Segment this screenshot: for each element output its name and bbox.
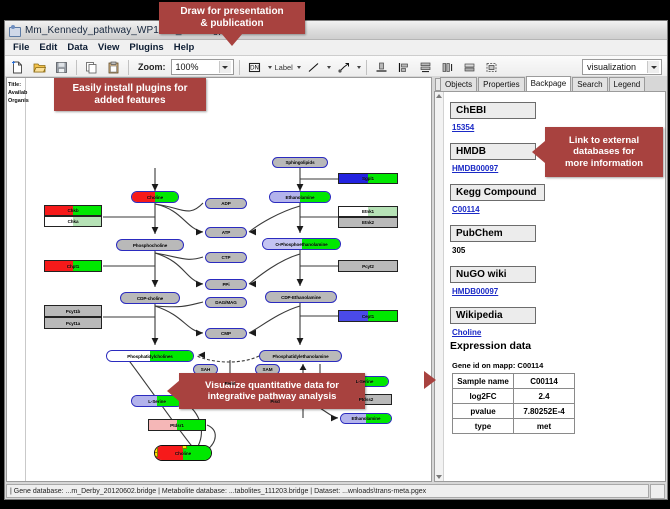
callout-plugins: Easily install plugins for added feature… — [54, 78, 206, 111]
distribute-vertical-icon[interactable] — [416, 58, 435, 77]
menu-file[interactable]: File — [8, 42, 34, 53]
backpage-link-nugo[interactable]: HMDB00097 — [452, 287, 659, 296]
label-dropdown-icon[interactable] — [297, 66, 301, 69]
metabolite-node-atp[interactable]: ATP — [205, 227, 247, 238]
callout-plugins-arrow — [102, 77, 124, 78]
gene-node-etnk1[interactable]: Etnk1 — [338, 206, 398, 217]
exp-value-sample: C00114 — [514, 374, 575, 389]
exp-label-log2fc: log2FC — [453, 389, 514, 404]
tab-objects[interactable]: Objects — [440, 77, 477, 91]
backpage-heading-hmdb: HMDB — [450, 143, 536, 160]
table-row: Sample name C00114 — [453, 374, 575, 389]
interaction-dropdown-icon[interactable] — [357, 66, 361, 69]
node-label: CMP — [221, 331, 231, 336]
menu-edit[interactable]: Edit — [34, 42, 62, 53]
node-label: PPi — [222, 282, 229, 287]
node-label: Ethanolamine — [286, 195, 315, 200]
callout-quant-arrow-right — [424, 371, 436, 389]
node-label: Ethanolamine — [352, 416, 381, 421]
svg-text:DN: DN — [249, 64, 258, 71]
exp-value-log2fc: 2.4 — [514, 389, 575, 404]
metabolite-node-cdp-ethanolamine[interactable]: CDP-Ethanolamine — [265, 291, 337, 303]
exp-label-type: type — [453, 419, 514, 434]
selection-handle-8[interactable] — [154, 448, 158, 453]
node-label: Pisd — [270, 399, 279, 404]
node-label: Etnk2 — [362, 220, 374, 225]
node-label: Pcyt2 — [362, 264, 374, 269]
node-label: L-Serine — [356, 379, 374, 384]
node-label: Etnk1 — [362, 209, 374, 214]
node-label: CDP-choline — [137, 296, 163, 301]
backpage-link-kegg[interactable]: C00114 — [452, 205, 659, 214]
node-label: SAH — [201, 367, 210, 372]
toolbar-separator-2 — [128, 60, 129, 75]
metabolite-node-cmp[interactable]: CMP — [205, 328, 247, 339]
node-label: L-Serine — [148, 399, 166, 404]
node-label: SAM — [263, 367, 273, 372]
gene-node-pcyt1a[interactable]: Pcyt1a — [44, 317, 102, 329]
node-label: Pemt — [225, 381, 236, 386]
visualization-chevron-down-icon[interactable] — [647, 61, 659, 73]
metabolite-node-ethanolamine[interactable]: Ethanolamine — [269, 191, 331, 203]
side-panel-tabs: Objects Properties Backpage Search Legen… — [434, 77, 666, 92]
metabolite-node-ctp[interactable]: CTP — [205, 252, 247, 263]
visualization-combo[interactable]: visualization — [582, 59, 662, 75]
gene-node-etnk2[interactable]: Etnk2 — [338, 217, 398, 228]
backpage-heading-nugo: NuGO wiki — [450, 266, 536, 283]
exp-label-sample: Sample name — [453, 374, 514, 389]
metabolite-node-phosphocholine[interactable]: Phosphocholine — [116, 239, 184, 251]
table-row: log2FC 2.4 — [453, 389, 575, 404]
zoom-label: Zoom: — [138, 62, 166, 72]
backpage-heading-chebi: ChEBI — [450, 102, 536, 119]
datanode-dropdown-icon[interactable] — [268, 66, 272, 69]
resize-grip[interactable] — [650, 484, 665, 499]
title-bar: Mm_Kennedy_pathway_WP1771_45176.gpml — [5, 21, 667, 40]
gene-node-chka[interactable]: Chka — [44, 216, 102, 227]
node-label: CTP — [222, 255, 231, 260]
node-label: ATP — [222, 230, 231, 235]
backpage-heading-wikipedia: Wikipedia — [450, 307, 536, 324]
node-label: Chka — [68, 219, 79, 224]
node-label: Phosphatidylethanolamine — [272, 354, 328, 359]
expression-table: Sample name C00114 log2FC 2.4 pvalue 7.8… — [452, 373, 575, 434]
selection-handle-6[interactable] — [182, 460, 187, 461]
paste-icon[interactable] — [104, 58, 123, 77]
metabolite-node-phosphatidylethanolamine[interactable]: Phosphatidylethanolamine — [259, 350, 342, 362]
zoom-combo[interactable]: 100% — [171, 59, 234, 75]
node-label: Sgpl1 — [362, 176, 374, 181]
node-label: Chkb — [67, 208, 78, 213]
callout-quant-arrow — [167, 380, 180, 402]
metabolite-node-adp[interactable]: ADP — [205, 198, 247, 209]
copy-icon[interactable] — [82, 58, 101, 77]
metabolite-node-phosphatidylcholines[interactable]: Phosphatidylcholines — [106, 350, 194, 362]
gene-node-pcyt1b[interactable]: Pcyt1b — [44, 305, 102, 317]
callout-plugins-line2: added features — [94, 95, 165, 106]
backpage-value-pubchem: 305 — [452, 246, 659, 255]
gene-id-line: Gene id on mapp: C00114 — [452, 361, 659, 370]
metabolite-node-cdp-choline[interactable]: CDP-choline — [120, 292, 180, 304]
gene-node-chpt1[interactable]: Chpt1 — [44, 260, 102, 272]
gene-node-ptdsr1[interactable]: Ptdsr1 — [148, 419, 206, 431]
callout-links-line1: Link to external — [569, 135, 639, 146]
backpage-heading-pubchem: PubChem — [450, 225, 536, 242]
pathvisio-window: Mm_Kennedy_pathway_WP1771_45176.gpml Fil… — [4, 20, 668, 500]
visualization-value: visualization — [587, 62, 647, 72]
node-label: Sphingolipids — [285, 160, 314, 165]
new-file-icon[interactable] — [8, 58, 27, 77]
node-label: ADP — [221, 201, 230, 206]
interaction-icon[interactable] — [334, 58, 353, 77]
node-label: Choline — [175, 451, 191, 456]
datanode-icon[interactable]: DN — [245, 58, 264, 77]
tab-backpage[interactable]: Backpage — [526, 76, 572, 91]
label-tool-label[interactable]: Label — [275, 63, 293, 72]
backpage-link-wikipedia[interactable]: Choline — [452, 328, 659, 337]
chevron-down-icon[interactable] — [219, 61, 231, 73]
pathway-canvas[interactable]: Title: Availab Organis — [6, 77, 432, 482]
gene-node-pcyt2[interactable]: Pcyt2 — [338, 260, 398, 272]
menu-data[interactable]: Data — [62, 42, 93, 53]
exp-value-pvalue: 7.80252E-4 — [514, 404, 575, 419]
gene-node-cept1[interactable]: Cept1 — [338, 310, 398, 322]
selection-handle-1[interactable] — [182, 445, 187, 449]
group-icon[interactable] — [482, 58, 501, 77]
tab-legend[interactable]: Legend — [609, 77, 646, 91]
tab-search[interactable]: Search — [572, 77, 607, 91]
callout-draw-line1: Draw for presentation — [180, 6, 283, 17]
exp-label-pvalue: pvalue — [453, 404, 514, 419]
zoom-value: 100% — [176, 62, 219, 72]
node-label: Ptdsr1 — [170, 423, 184, 428]
node-label: Cept1 — [362, 314, 374, 319]
callout-draw-line2: & publication — [200, 18, 263, 29]
node-label: Phosphatidylcholines — [127, 354, 172, 359]
callout-draw-arrow — [221, 33, 243, 46]
distribute-horizontal-icon[interactable] — [438, 58, 457, 77]
line-dropdown-icon[interactable] — [327, 66, 331, 69]
line-icon[interactable] — [304, 58, 323, 77]
exp-value-type: met — [514, 419, 575, 434]
gene-node-sgpl1[interactable]: Sgpl1 — [338, 173, 398, 184]
menu-plugins[interactable]: Plugins — [124, 42, 168, 53]
metabolite-node-ppi[interactable]: PPi — [205, 279, 247, 290]
callout-links-line2: databases for — [573, 146, 635, 157]
metabolite-node-sphingolipids[interactable]: Sphingolipids — [272, 157, 328, 168]
table-row: pvalue 7.80252E-4 — [453, 404, 575, 419]
tab-properties[interactable]: Properties — [478, 77, 524, 91]
node-label: Choline — [147, 195, 163, 200]
node-label: Chpt1 — [67, 264, 80, 269]
node-label: O-Phosphoethanolamine — [275, 242, 327, 247]
screenshot-root: Mm_Kennedy_pathway_WP1771_45176.gpml Fil… — [0, 0, 670, 509]
status-bar: | Gene database: ...m_Derby_20120602.bri… — [5, 483, 667, 499]
backpage-heading-kegg: Kegg Compound — [450, 184, 545, 201]
metabolite-node-choline[interactable]: Choline — [131, 191, 179, 203]
toolbar-separator — [76, 60, 77, 75]
align-left-icon[interactable] — [394, 58, 413, 77]
node-label: Pcyt1a — [66, 321, 80, 326]
gene-node-chkb[interactable]: Chkb — [44, 205, 102, 216]
node-label: CDP-Ethanolamine — [281, 295, 321, 300]
callout-plugins-line1: Easily install plugins for — [72, 83, 187, 94]
node-label: Ptdss2 — [359, 397, 373, 402]
table-row: type met — [453, 419, 575, 434]
toolbar-separator-3 — [239, 60, 240, 75]
menu-help[interactable]: Help — [169, 42, 200, 53]
metabolite-node-dag-mag[interactable]: DAG/MAG — [205, 297, 247, 308]
node-label: Phosphocholine — [133, 243, 167, 248]
node-label: DAG/MAG — [215, 300, 237, 305]
node-label: Pcyt1b — [66, 309, 80, 314]
backpage-scrollbar[interactable] — [435, 92, 444, 481]
callout-draw: Draw for presentation & publication — [159, 2, 305, 34]
status-text: | Gene database: ...m_Derby_20120602.bri… — [6, 484, 649, 498]
app-icon — [9, 25, 20, 36]
align-bottom-icon[interactable] — [372, 58, 391, 77]
metabolite-node-ethanolamine[interactable]: Ethanolamine — [340, 413, 392, 424]
expression-data-heading: Expression data — [450, 340, 659, 352]
menu-bar: File Edit Data View Plugins Help — [5, 40, 667, 56]
callout-links-line3: more information — [565, 158, 643, 169]
toolbar-separator-4 — [366, 60, 367, 75]
selected-node-choline[interactable]: Choline — [154, 445, 212, 461]
pathway-drawing[interactable]: Title: Availab Organis — [7, 78, 431, 481]
callout-links-arrow — [532, 141, 545, 163]
save-icon[interactable] — [52, 58, 71, 77]
metabolite-node-o-phosphoethanolamine[interactable]: O-Phosphoethanolamine — [262, 238, 341, 250]
stack-icon[interactable] — [460, 58, 479, 77]
menu-view[interactable]: View — [93, 42, 124, 53]
open-folder-icon[interactable] — [30, 58, 49, 77]
callout-links: Link to external databases for more info… — [545, 127, 663, 177]
